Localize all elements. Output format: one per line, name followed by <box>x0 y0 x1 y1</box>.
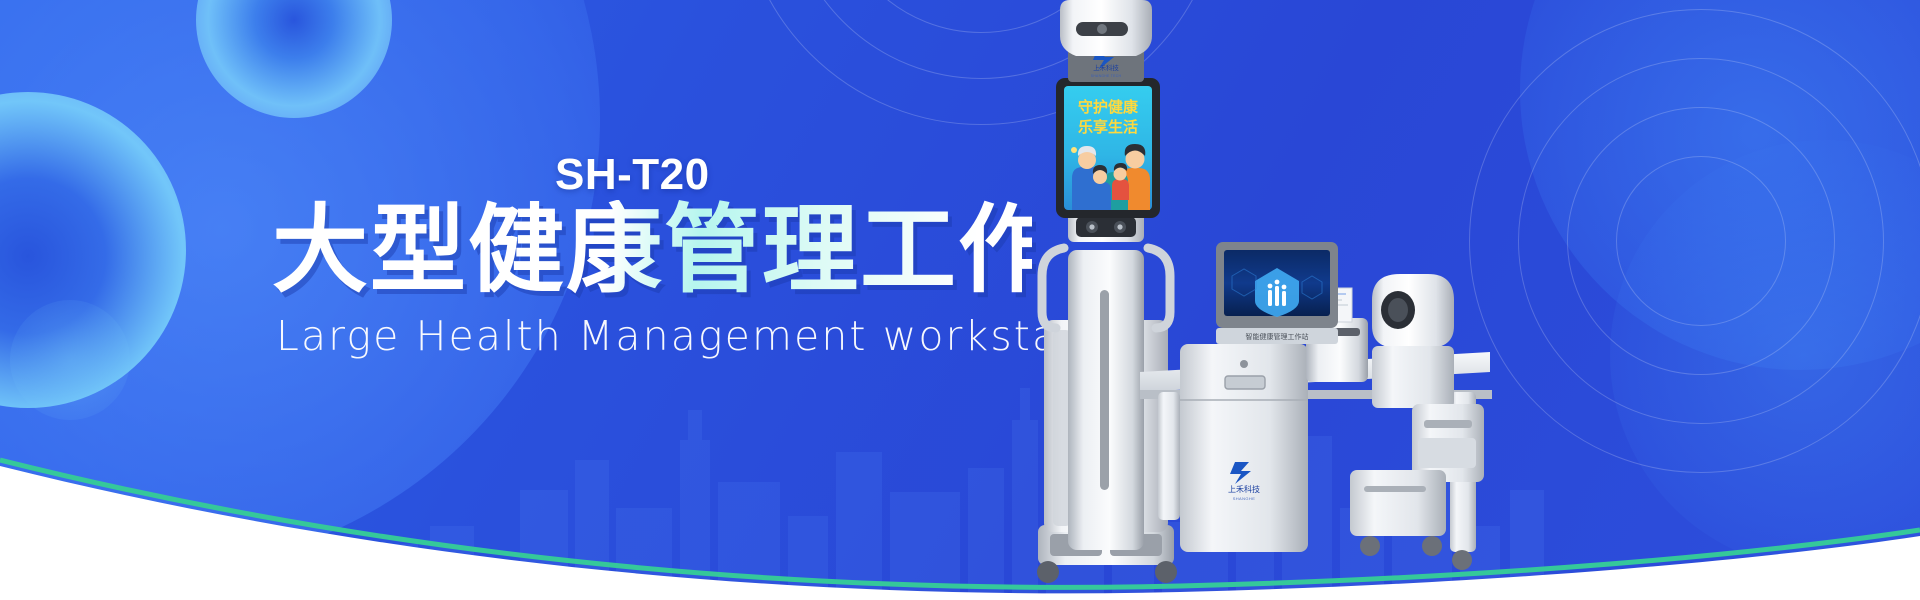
laptop-caption: 智能健康管理工作站 <box>1246 332 1309 341</box>
desk-laptop: 智能健康管理工作站 <box>1216 242 1338 344</box>
desk-assembly: 上禾科技 SHANGHE <box>1140 242 1492 570</box>
cabinet-logo-text: 上禾科技 <box>1228 484 1260 494</box>
kiosk-advert-screen: 守护健康 乐享生活 <box>1056 78 1160 218</box>
kiosk-slogan-line1: 守护健康 <box>1078 98 1139 116</box>
kiosk-logo-pinyin: SHANGHE TECH <box>1091 74 1122 78</box>
subheadline-english: Large Health Management workstation <box>276 312 1036 360</box>
kiosk-logo-text: 上禾科技 <box>1093 63 1119 72</box>
cabinet-logo-pinyin: SHANGHE <box>1233 496 1256 501</box>
model-code: SH-T20 <box>555 150 710 200</box>
banner-copy-block: SH-T20 大型健康管理工作站 Large Health Management… <box>0 0 1040 600</box>
headline-chinese: 大型健康管理工作站 <box>272 200 1032 302</box>
desk-drawer-cabinet: 上禾科技 SHANGHE <box>1180 344 1308 552</box>
kiosk-column: 守护健康 乐享生活 <box>1037 0 1177 583</box>
kiosk-slogan-line2: 乐享生活 <box>1078 118 1138 136</box>
product-photo-health-workstation: 守护健康 乐享生活 <box>1020 0 1920 600</box>
blood-pressure-module <box>1372 274 1484 482</box>
product-banner: SH-T20 大型健康管理工作站 Large Health Management… <box>0 0 1920 600</box>
